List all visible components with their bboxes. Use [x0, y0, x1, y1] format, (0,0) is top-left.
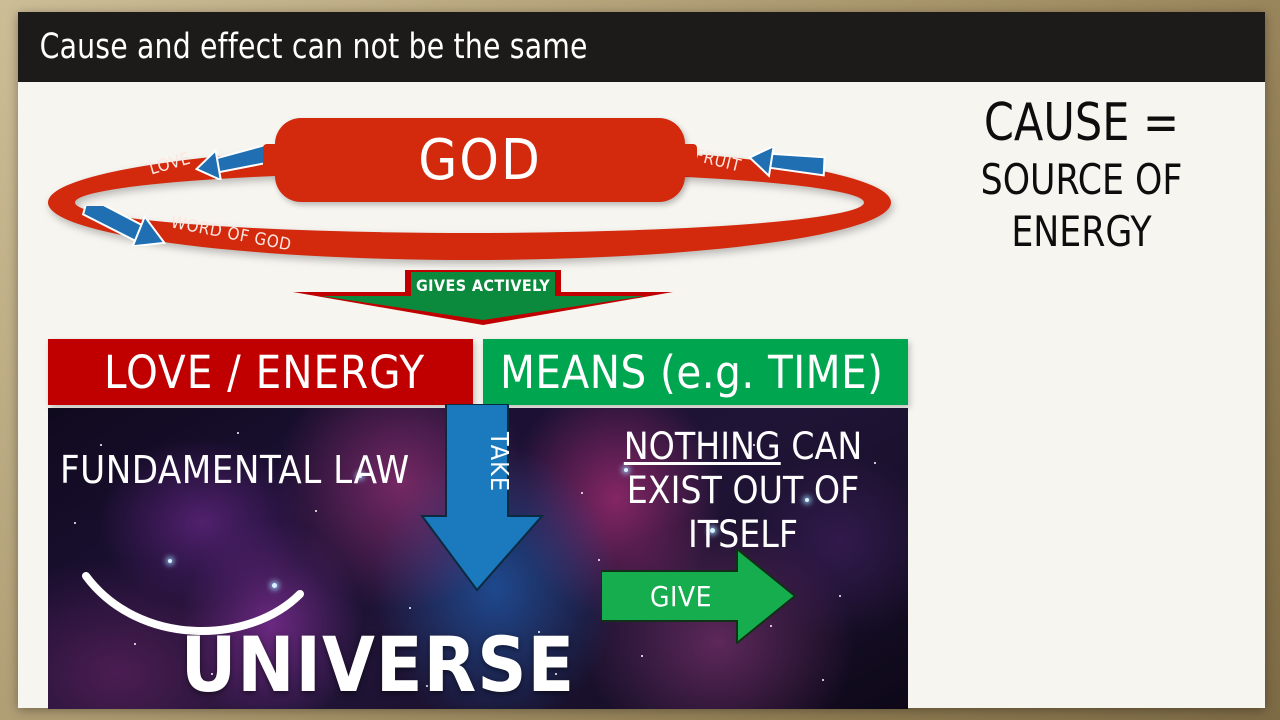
page-title: Cause and effect can not be the same: [18, 27, 588, 67]
bar-love-energy: LOVE / ENERGY: [48, 339, 473, 405]
bar-means-time-label: MEANS (e.g. TIME): [483, 346, 884, 399]
nothing-line1-rest: CAN: [781, 425, 862, 468]
god-label: GOD: [418, 128, 542, 193]
nothing-line1: NOTHING CAN: [593, 425, 893, 469]
god-box: GOD: [275, 118, 685, 202]
fundamental-law-label: FUNDAMENTAL LAW: [60, 448, 410, 492]
arrow-left-icon-fruit: [741, 147, 827, 181]
slide-canvas: Cause and effect can not be the same CAU…: [18, 12, 1265, 708]
source-of-energy-label: SOURCE OF ENERGY: [913, 154, 1251, 258]
give-arrow: GIVE: [601, 549, 801, 644]
gives-actively-label: GIVES ACTIVELY: [293, 270, 673, 300]
take-label: TAKE: [474, 417, 514, 507]
give-label: GIVE: [601, 549, 761, 644]
arrow-left-icon-love: [188, 146, 274, 180]
take-arrow: TAKE: [416, 404, 546, 594]
arrow-right-icon-word-of-god: [76, 206, 181, 246]
bar-means-time: MEANS (e.g. TIME): [483, 339, 908, 405]
nothing-line2: EXIST OUT OF ITSELF: [593, 469, 893, 557]
cause-equals-label: CAUSE =: [913, 92, 1251, 154]
bar-love-energy-label: LOVE / ENERGY: [48, 346, 425, 399]
gives-actively-arrow: GIVES ACTIVELY: [293, 270, 673, 325]
nothing-underlined: NOTHING: [624, 425, 781, 468]
cause-definition-panel: CAUSE = SOURCE OF ENERGY: [898, 92, 1265, 252]
nothing-can-exist-text: NOTHING CAN EXIST OUT OF ITSELF: [593, 425, 893, 557]
slide-title-bar: Cause and effect can not be the same: [18, 12, 1265, 82]
